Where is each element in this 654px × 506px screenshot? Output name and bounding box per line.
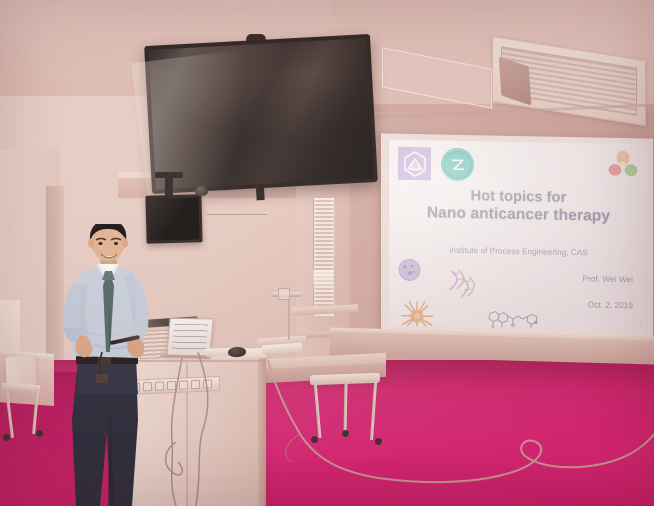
nanoparticle-cell-illustration-icon [397, 258, 422, 282]
slide-date: Oct. 2, 2019 [588, 299, 633, 310]
slide-title-line-2: Nano anticancer therapy [389, 204, 648, 226]
ceiling-mounted-tv[interactable] [144, 34, 378, 194]
slide-affiliation: Institute of Process Engineering, CAS [389, 244, 648, 259]
dome-camera-icon [195, 186, 208, 196]
slide-title: Hot topics for Nano anticancer therapy [389, 187, 648, 226]
protein-illustration-icon [606, 150, 640, 181]
institute-seal-logo-icon [441, 148, 474, 182]
virus-star-illustration-icon [400, 300, 434, 331]
slide-page-number: 1 [639, 322, 642, 328]
ipe-cas-logo-icon [398, 147, 431, 181]
slide-presenter-name: Prof. Wei Wei [583, 273, 633, 284]
window-blinds[interactable] [313, 198, 334, 316]
desk-lamp-clamp [278, 288, 290, 300]
photograph-scene: Hot topics for Nano anticancer therapy I… [0, 0, 654, 506]
presenter-person [58, 224, 168, 506]
monitor-bracket-arm [165, 174, 173, 196]
ceiling-cable [207, 214, 267, 215]
window-light-glow [313, 270, 333, 294]
tv-mount-stem [256, 184, 265, 200]
dna-helix-illustration-icon [446, 269, 478, 300]
projection-screen: Hot topics for Nano anticancer therapy I… [381, 133, 653, 337]
presentation-slide: Hot topics for Nano anticancer therapy I… [389, 140, 648, 331]
tv-screen-glare [131, 48, 274, 208]
chemical-structure-illustration-icon [484, 309, 542, 330]
